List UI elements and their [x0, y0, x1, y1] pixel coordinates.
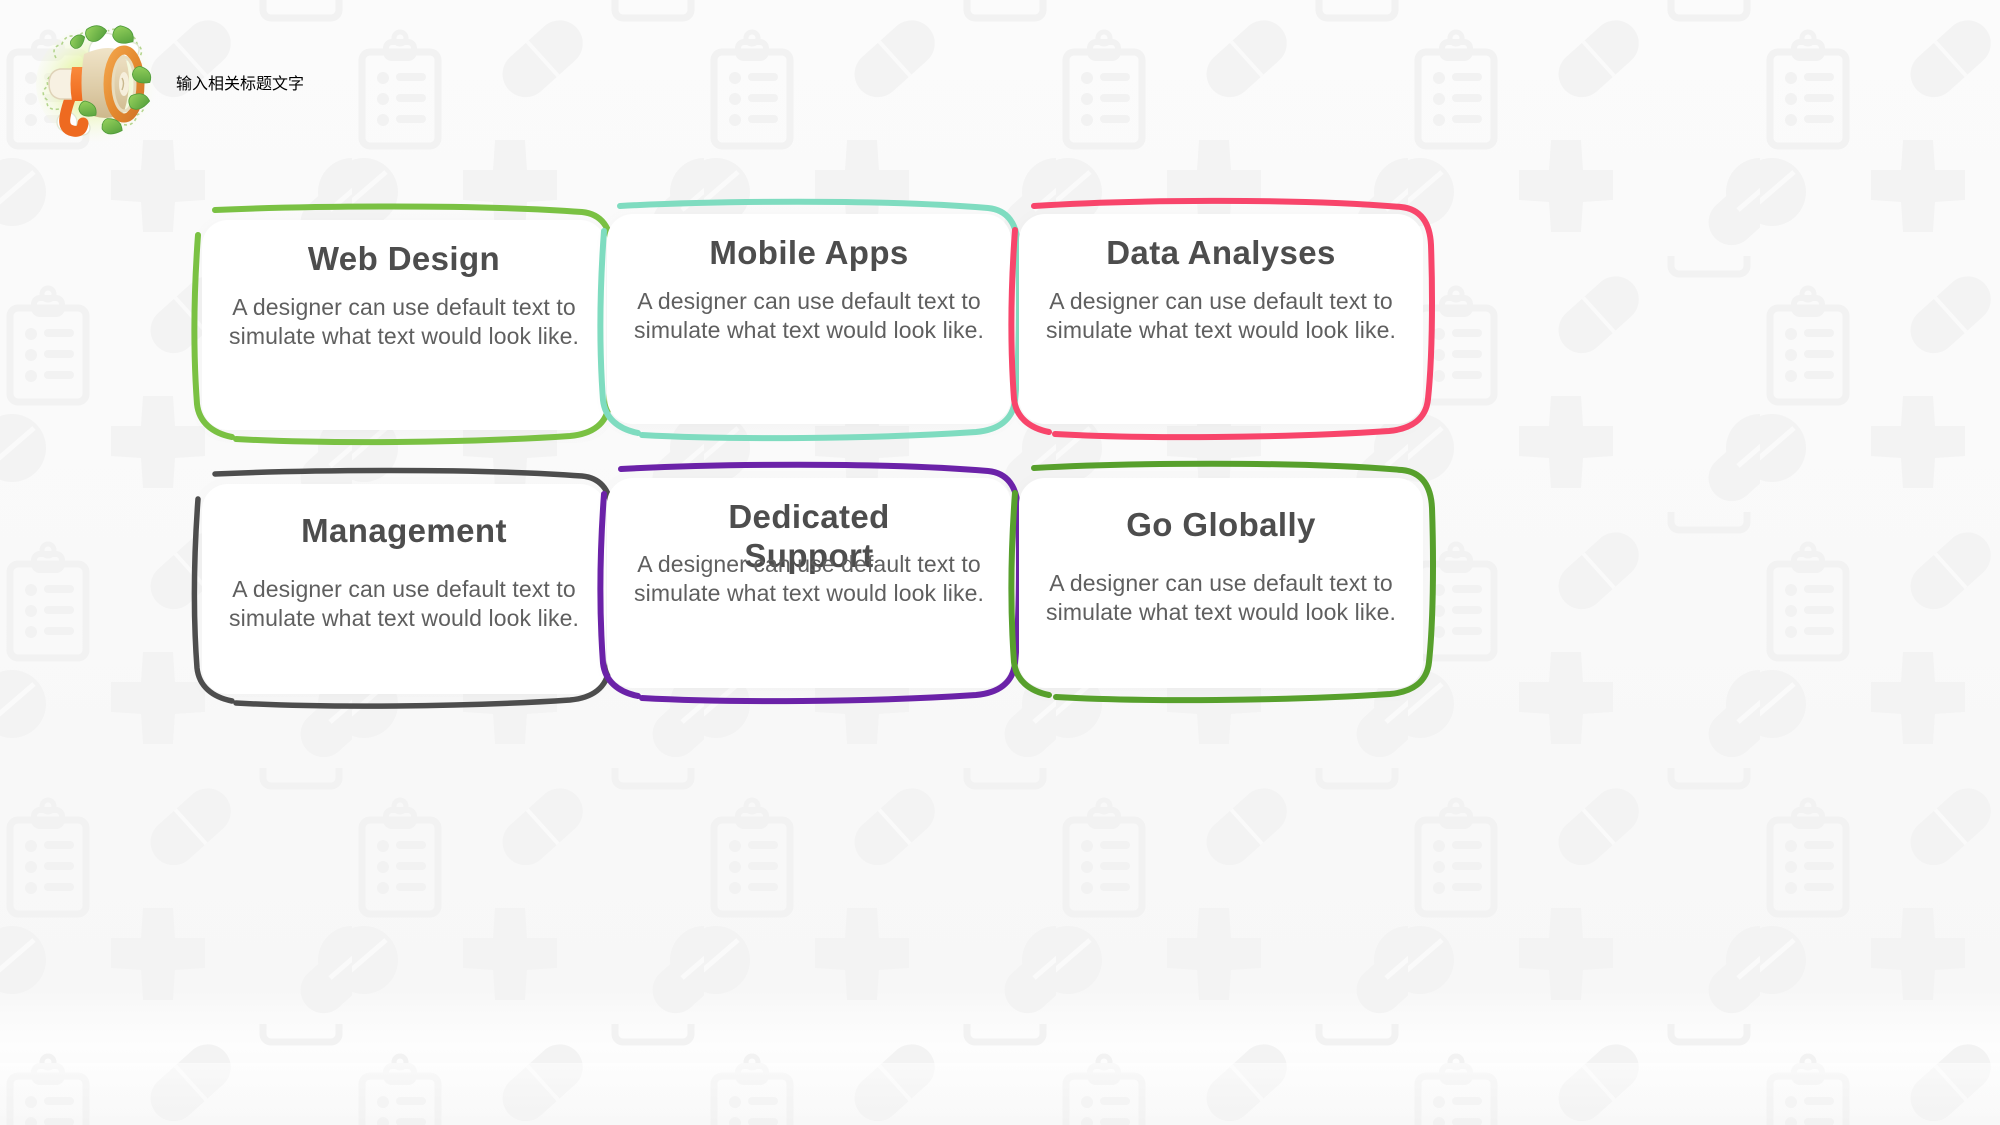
card-title: Go Globally — [1126, 506, 1316, 545]
card-go-globally[interactable]: Go Globally A designer can use default t… — [1001, 456, 1441, 706]
card-description: A designer can use default text to simul… — [613, 550, 1005, 609]
card-web-design[interactable]: Web Design A designer can use default te… — [184, 198, 624, 448]
card-title: Management — [301, 512, 507, 551]
card-description: A designer can use default text to simul… — [1025, 569, 1417, 628]
card-title: Data Analyses — [1106, 234, 1336, 273]
page-title: 输入相关标题文字 — [176, 70, 304, 94]
card-management[interactable]: Management A designer can use default te… — [184, 462, 624, 712]
card-content: Data Analyses A designer can use default… — [1025, 234, 1417, 346]
card-content: Dedicated Support A designer can use def… — [613, 498, 1005, 609]
bottom-light-band — [0, 1063, 2000, 1125]
card-content: Go Globally A designer can use default t… — [1025, 506, 1417, 628]
card-title: Web Design — [308, 240, 500, 279]
megaphone-icon — [36, 18, 176, 146]
card-dedicated-support[interactable]: Dedicated Support A designer can use def… — [589, 456, 1029, 706]
card-description: A designer can use default text to simul… — [1025, 287, 1417, 346]
card-title: Mobile Apps — [709, 234, 908, 273]
card-content: Mobile Apps A designer can use default t… — [613, 234, 1005, 346]
card-description: A designer can use default text to simul… — [208, 575, 600, 634]
card-data-analyses[interactable]: Data Analyses A designer can use default… — [1001, 192, 1441, 442]
slide-canvas: 输入相关标题文字 Web Design A designer can use d… — [0, 0, 2000, 1125]
card-description: A designer can use default text to simul… — [613, 287, 1005, 346]
card-mobile-apps[interactable]: Mobile Apps A designer can use default t… — [589, 192, 1029, 442]
card-description: A designer can use default text to simul… — [208, 293, 600, 352]
card-content: Web Design A designer can use default te… — [208, 240, 600, 352]
slide-header: 输入相关标题文字 — [36, 18, 676, 146]
card-content: Management A designer can use default te… — [208, 512, 600, 634]
